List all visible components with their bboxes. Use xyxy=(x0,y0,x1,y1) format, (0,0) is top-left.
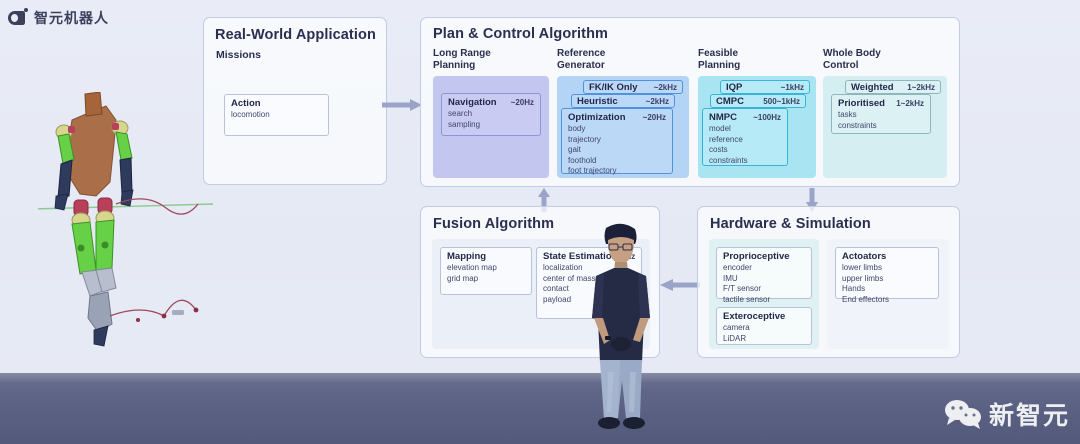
card-fk-ik-only-freq: ~2kHz xyxy=(654,83,677,92)
card-iqp-name: IQP xyxy=(726,82,742,93)
plan-control-title: Plan & Control Algorithm xyxy=(433,26,608,42)
panel-plan-control-algorithm: Plan & Control Algorithm Long Range Plan… xyxy=(420,17,960,187)
card-prioritised-name: Prioritised xyxy=(838,98,885,109)
real-world-subtitle: Missions xyxy=(216,49,261,61)
card-optimization-items: body trajectory gait foothold foot traje… xyxy=(568,124,666,177)
hardware-actuators-area: Actoators lower limbs upper limbs Hands … xyxy=(827,239,949,349)
card-optimization-freq: ~20Hz xyxy=(643,113,666,122)
card-weighted-freq: 1~2kHz xyxy=(907,83,935,92)
card-proprioceptive-items: encoder IMU F/T sensor tactile sensor xyxy=(723,263,805,305)
card-prioritised-items: tasks constraints xyxy=(838,110,924,131)
hardware-sensors-area: Proprioceptive encoder IMU F/T sensor ta… xyxy=(709,239,819,349)
card-proprioceptive-name: Proprioceptive xyxy=(723,251,790,262)
card-mapping-items: elevation map grid map xyxy=(447,263,525,284)
card-mapping[interactable]: Mapping elevation map grid map xyxy=(440,247,532,295)
card-nmpc-items: model reference costs constraints xyxy=(709,124,781,166)
fusion-title: Fusion Algorithm xyxy=(433,216,554,232)
card-mapping-name: Mapping xyxy=(447,251,486,262)
card-fk-ik-only-name: FK/IK Only xyxy=(589,82,638,93)
card-cmpc-name: CMPC xyxy=(716,96,744,107)
card-nmpc-freq: ~100Hz xyxy=(753,113,781,122)
arrow-hardware-to-fusion-icon xyxy=(660,277,700,293)
real-world-title: Real-World Application xyxy=(215,27,376,43)
card-exteroceptive-items: camera LiDAR xyxy=(723,323,805,344)
card-optimization[interactable]: Optimization ~20Hz body trajectory gait … xyxy=(561,108,673,174)
card-nmpc-name: NMPC xyxy=(709,112,737,123)
card-action-name: Action xyxy=(231,98,261,109)
panel-hardware-simulation: Hardware & Simulation Proprioceptive enc… xyxy=(697,206,960,358)
card-navigation-name: Navigation xyxy=(448,97,497,108)
card-navigation[interactable]: Navigation ~20Hz search sampling xyxy=(441,93,541,136)
card-actuators-name: Actoators xyxy=(842,251,886,262)
card-navigation-items: search sampling xyxy=(448,109,534,130)
card-action-items: locomotion xyxy=(231,110,322,121)
card-proprioceptive[interactable]: Proprioceptive encoder IMU F/T sensor ta… xyxy=(716,247,812,299)
card-actuators-items: lower limbs upper limbs Hands End effect… xyxy=(842,263,932,305)
card-prioritised-freq: 1~2kHz xyxy=(896,99,924,108)
column-whole-body-control: Weighted 1~2kHz Prioritised 1~2kHz tasks… xyxy=(823,76,947,178)
card-navigation-freq: ~20Hz xyxy=(511,98,534,107)
slide-diagram: Real-World Application Missions Action l… xyxy=(0,0,1080,380)
column-label-reference-generator: Reference Generator xyxy=(557,48,605,72)
column-label-long-range-planning: Long Range Planning xyxy=(433,48,491,72)
presentation-stage-scene: 智元机器人 xyxy=(0,0,1080,444)
card-cmpc[interactable]: CMPC 500~1kHz xyxy=(710,94,806,108)
column-label-feasible-planning: Feasible Planning xyxy=(698,48,740,72)
arrow-realworld-to-plan-icon xyxy=(382,97,424,113)
column-feasible-planning: IQP ~1kHz CMPC 500~1kHz NMPC ~100Hz xyxy=(698,76,816,178)
card-weighted[interactable]: Weighted 1~2kHz xyxy=(845,80,941,94)
card-fk-ik-only[interactable]: FK/IK Only ~2kHz xyxy=(583,80,683,94)
card-prioritised[interactable]: Prioritised 1~2kHz tasks constraints xyxy=(831,94,931,134)
wechat-watermark: 新智元 xyxy=(944,396,1070,432)
stage-floor xyxy=(0,373,1080,444)
wechat-icon xyxy=(944,399,982,429)
card-exteroceptive[interactable]: Exteroceptive camera LiDAR xyxy=(716,307,812,345)
card-nmpc[interactable]: NMPC ~100Hz model reference costs constr… xyxy=(702,108,788,166)
card-optimization-name: Optimization xyxy=(568,112,626,123)
column-long-range-planning: Navigation ~20Hz search sampling xyxy=(433,76,549,178)
card-heuristic[interactable]: Heuristic ~2kHz xyxy=(571,94,675,108)
presenter-figure xyxy=(578,222,664,436)
card-iqp[interactable]: IQP ~1kHz xyxy=(720,80,810,94)
panel-real-world-application: Real-World Application Missions Action l… xyxy=(203,17,387,185)
card-action[interactable]: Action locomotion xyxy=(224,94,329,136)
card-heuristic-freq: ~2kHz xyxy=(646,97,669,106)
column-label-whole-body-control: Whole Body Control xyxy=(823,48,881,72)
card-cmpc-freq: 500~1kHz xyxy=(763,97,800,106)
card-actuators[interactable]: Actoators lower limbs upper limbs Hands … xyxy=(835,247,939,299)
watermark-text: 新智元 xyxy=(989,396,1070,432)
column-reference-generator: FK/IK Only ~2kHz Heuristic ~2kHz Optimiz… xyxy=(557,76,689,178)
card-weighted-name: Weighted xyxy=(851,82,894,93)
card-exteroceptive-name: Exteroceptive xyxy=(723,311,785,322)
hardware-title: Hardware & Simulation xyxy=(710,216,871,232)
card-iqp-freq: ~1kHz xyxy=(781,83,804,92)
card-heuristic-name: Heuristic xyxy=(577,96,618,107)
